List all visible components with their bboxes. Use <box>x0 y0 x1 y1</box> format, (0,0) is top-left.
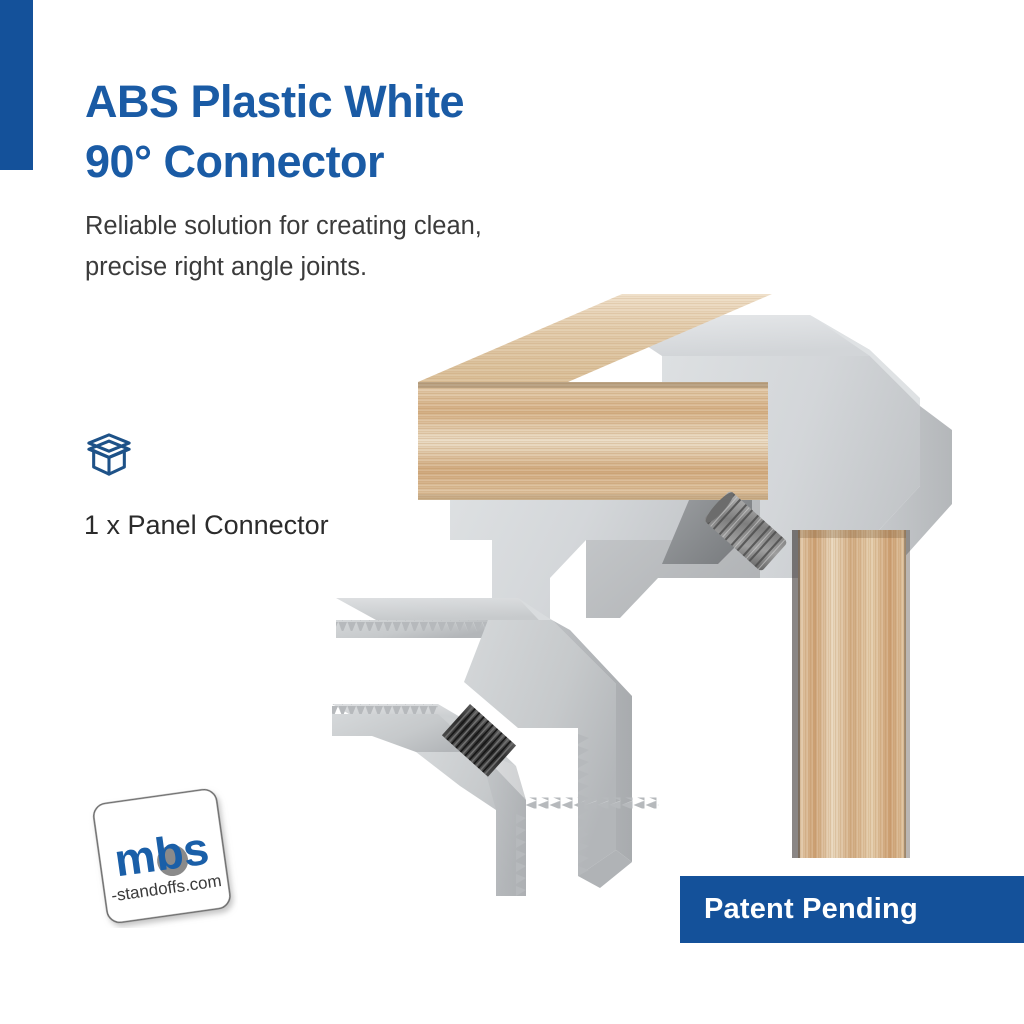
open-box-icon <box>84 432 414 478</box>
patent-pending-banner: Patent Pending <box>680 876 1024 943</box>
vertical-wood-beam <box>792 530 910 858</box>
headline-block: ABS Plastic White 90° Connector Reliable… <box>85 72 705 288</box>
contents-label: 1 x Panel Connector <box>84 510 414 541</box>
patent-pending-label: Patent Pending <box>680 893 918 926</box>
package-contents: 1 x Panel Connector <box>84 432 414 541</box>
page-subtitle: Reliable solution for creating clean, pr… <box>85 206 705 289</box>
page-title: ABS Plastic White 90° Connector <box>85 72 705 192</box>
mbs-logo: mbs -standoffs.com <box>86 786 238 928</box>
connector-hardware-render <box>320 586 660 916</box>
left-accent-bar <box>0 0 33 170</box>
